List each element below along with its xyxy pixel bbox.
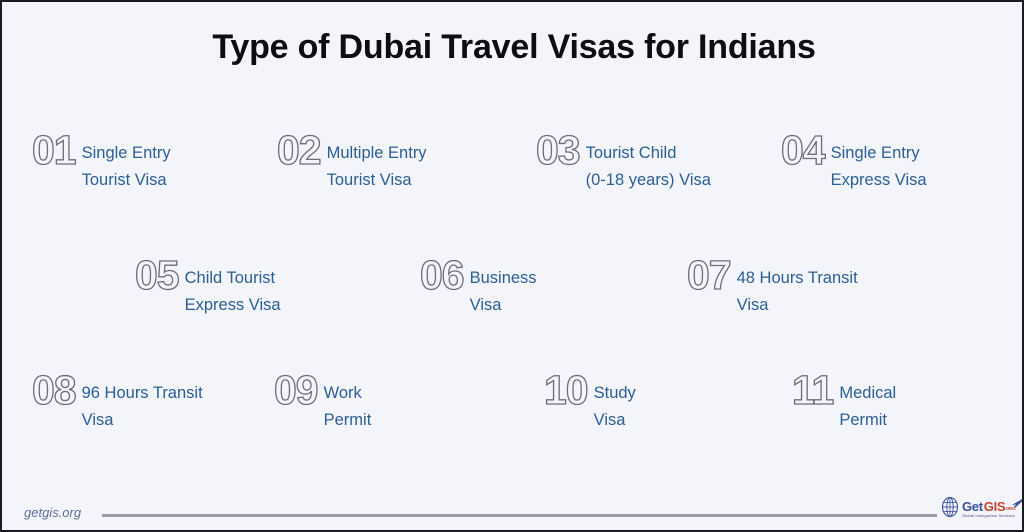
visa-item[interactable]: 02Multiple Entry Tourist Visa [277, 140, 427, 193]
visa-item-number: 03 [536, 130, 580, 171]
visa-item-label: Child Tourist Express Visa [185, 265, 281, 318]
getgis-logo[interactable]: Get GIS .ORG Global Immigration Services [940, 494, 1020, 524]
visa-item[interactable]: 01Single Entry Tourist Visa [32, 140, 171, 193]
logo-gis-text: GIS [984, 500, 1006, 513]
visa-item-number: 06 [420, 255, 464, 296]
visa-item[interactable]: 0748 Hours Transit Visa [687, 265, 858, 318]
visa-item[interactable]: 10Study Visa [544, 380, 636, 433]
visa-item[interactable]: 0896 Hours Transit Visa [32, 380, 203, 433]
logo-text-block: Get GIS .ORG Global Immigration Services [962, 500, 1017, 518]
visa-item-label: Medical Permit [839, 380, 896, 433]
visa-item-number: 04 [781, 130, 825, 171]
visa-item-label: Business Visa [470, 265, 537, 318]
visa-item-label: Study Visa [594, 380, 636, 433]
infographic-canvas: Type of Dubai Travel Visas for Indians 0… [0, 0, 1024, 532]
logo-tagline: Global Immigration Services [962, 514, 1017, 518]
visa-item-label: Multiple Entry Tourist Visa [327, 140, 427, 193]
visa-item-label: Single Entry Express Visa [831, 140, 927, 193]
globe-icon [940, 496, 960, 523]
visa-item-number: 01 [32, 130, 76, 171]
visa-item[interactable]: 05Child Tourist Express Visa [135, 265, 281, 318]
visa-item-number: 09 [274, 370, 318, 411]
visa-item-label: Single Entry Tourist Visa [82, 140, 171, 193]
visa-item-label: Tourist Child (0-18 years) Visa [586, 140, 711, 193]
visa-item-number: 08 [32, 370, 76, 411]
visa-item-label: Work Permit [324, 380, 372, 433]
visa-item-number: 05 [135, 255, 179, 296]
visa-item[interactable]: 09Work Permit [274, 380, 371, 433]
visa-item-number: 02 [277, 130, 321, 171]
airplane-icon [1011, 497, 1024, 513]
visa-item[interactable]: 04Single Entry Express Visa [781, 140, 927, 193]
visa-item-label: 96 Hours Transit Visa [82, 380, 203, 433]
page-title: Type of Dubai Travel Visas for Indians [2, 28, 1024, 67]
logo-get-text: Get [962, 500, 983, 513]
visa-item-number: 10 [544, 370, 588, 411]
logo-wordmark: Get GIS .ORG [962, 500, 1017, 513]
visa-item[interactable]: 06Business Visa [420, 265, 537, 318]
visa-item-number: 11 [792, 370, 833, 411]
visa-item[interactable]: 03Tourist Child (0-18 years) Visa [536, 140, 711, 193]
footer-divider [102, 514, 937, 517]
visa-item[interactable]: 11Medical Permit [792, 380, 896, 433]
footer-site-label: getgis.org [24, 505, 81, 520]
visa-item-number: 07 [687, 255, 731, 296]
visa-item-label: 48 Hours Transit Visa [737, 265, 858, 318]
